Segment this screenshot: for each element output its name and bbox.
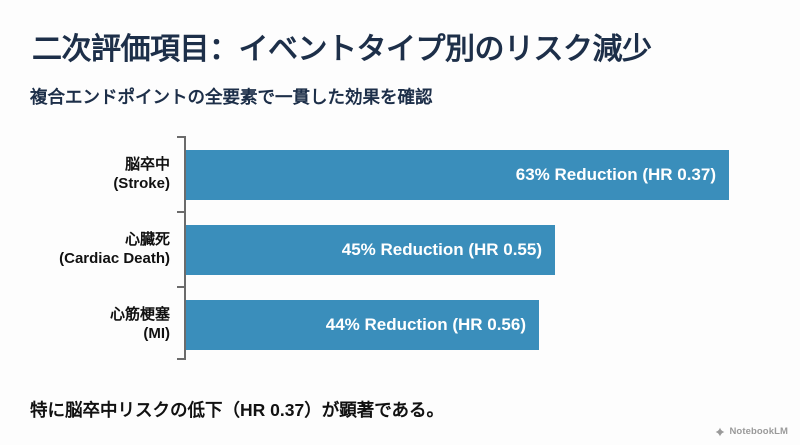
notebooklm-spark-icon: [715, 427, 725, 437]
bar-value-label: 63% Reduction (HR 0.37): [516, 165, 729, 185]
page-subtitle: 複合エンドポイントの全要素で一貫した効果を確認: [30, 84, 433, 109]
bar-mi[interactable]: 44% Reduction (HR 0.56): [186, 300, 539, 350]
notebooklm-watermark-label: NotebookLM: [729, 426, 788, 437]
notebooklm-watermark: NotebookLM: [715, 426, 788, 437]
bar-row: 脳卒中 (Stroke) 63% Reduction (HR 0.37): [0, 150, 800, 200]
axis-cap-top: [177, 136, 185, 138]
axis-cap-bottom: [177, 358, 185, 360]
bar-cardiac-death[interactable]: 45% Reduction (HR 0.55): [186, 225, 555, 275]
category-label-stroke: 脳卒中 (Stroke): [10, 150, 170, 200]
summary-caption: 特に脳卒中リスクの低下（HR 0.37）が顕著である。: [30, 397, 444, 422]
bar-row: 心臓死 (Cardiac Death) 45% Reduction (HR 0.…: [0, 225, 800, 275]
category-label-mi: 心筋梗塞 (MI): [10, 300, 170, 350]
axis-tick-1: [177, 211, 185, 213]
category-label-ja: 心筋梗塞: [110, 306, 170, 325]
category-label-ja: 心臓死: [125, 231, 170, 250]
category-label-ja: 脳卒中: [125, 156, 170, 175]
bar-row: 心筋梗塞 (MI) 44% Reduction (HR 0.56): [0, 300, 800, 350]
bar-stroke[interactable]: 63% Reduction (HR 0.37): [186, 150, 729, 200]
bar-chart: 脳卒中 (Stroke) 63% Reduction (HR 0.37) 心臓死…: [0, 130, 800, 365]
bar-value-label: 44% Reduction (HR 0.56): [326, 315, 539, 335]
category-label-en: (Cardiac Death): [59, 250, 170, 269]
category-label-en: (MI): [143, 325, 170, 344]
category-label-en: (Stroke): [113, 175, 170, 194]
bar-value-label: 45% Reduction (HR 0.55): [342, 240, 555, 260]
axis-tick-2: [177, 286, 185, 288]
category-label-cardiac-death: 心臓死 (Cardiac Death): [10, 225, 170, 275]
page-title: 二次評価項目：イベントタイプ別のリスク減少: [32, 24, 652, 68]
slide-canvas: 二次評価項目：イベントタイプ別のリスク減少 複合エンドポイントの全要素で一貫した…: [0, 0, 800, 445]
